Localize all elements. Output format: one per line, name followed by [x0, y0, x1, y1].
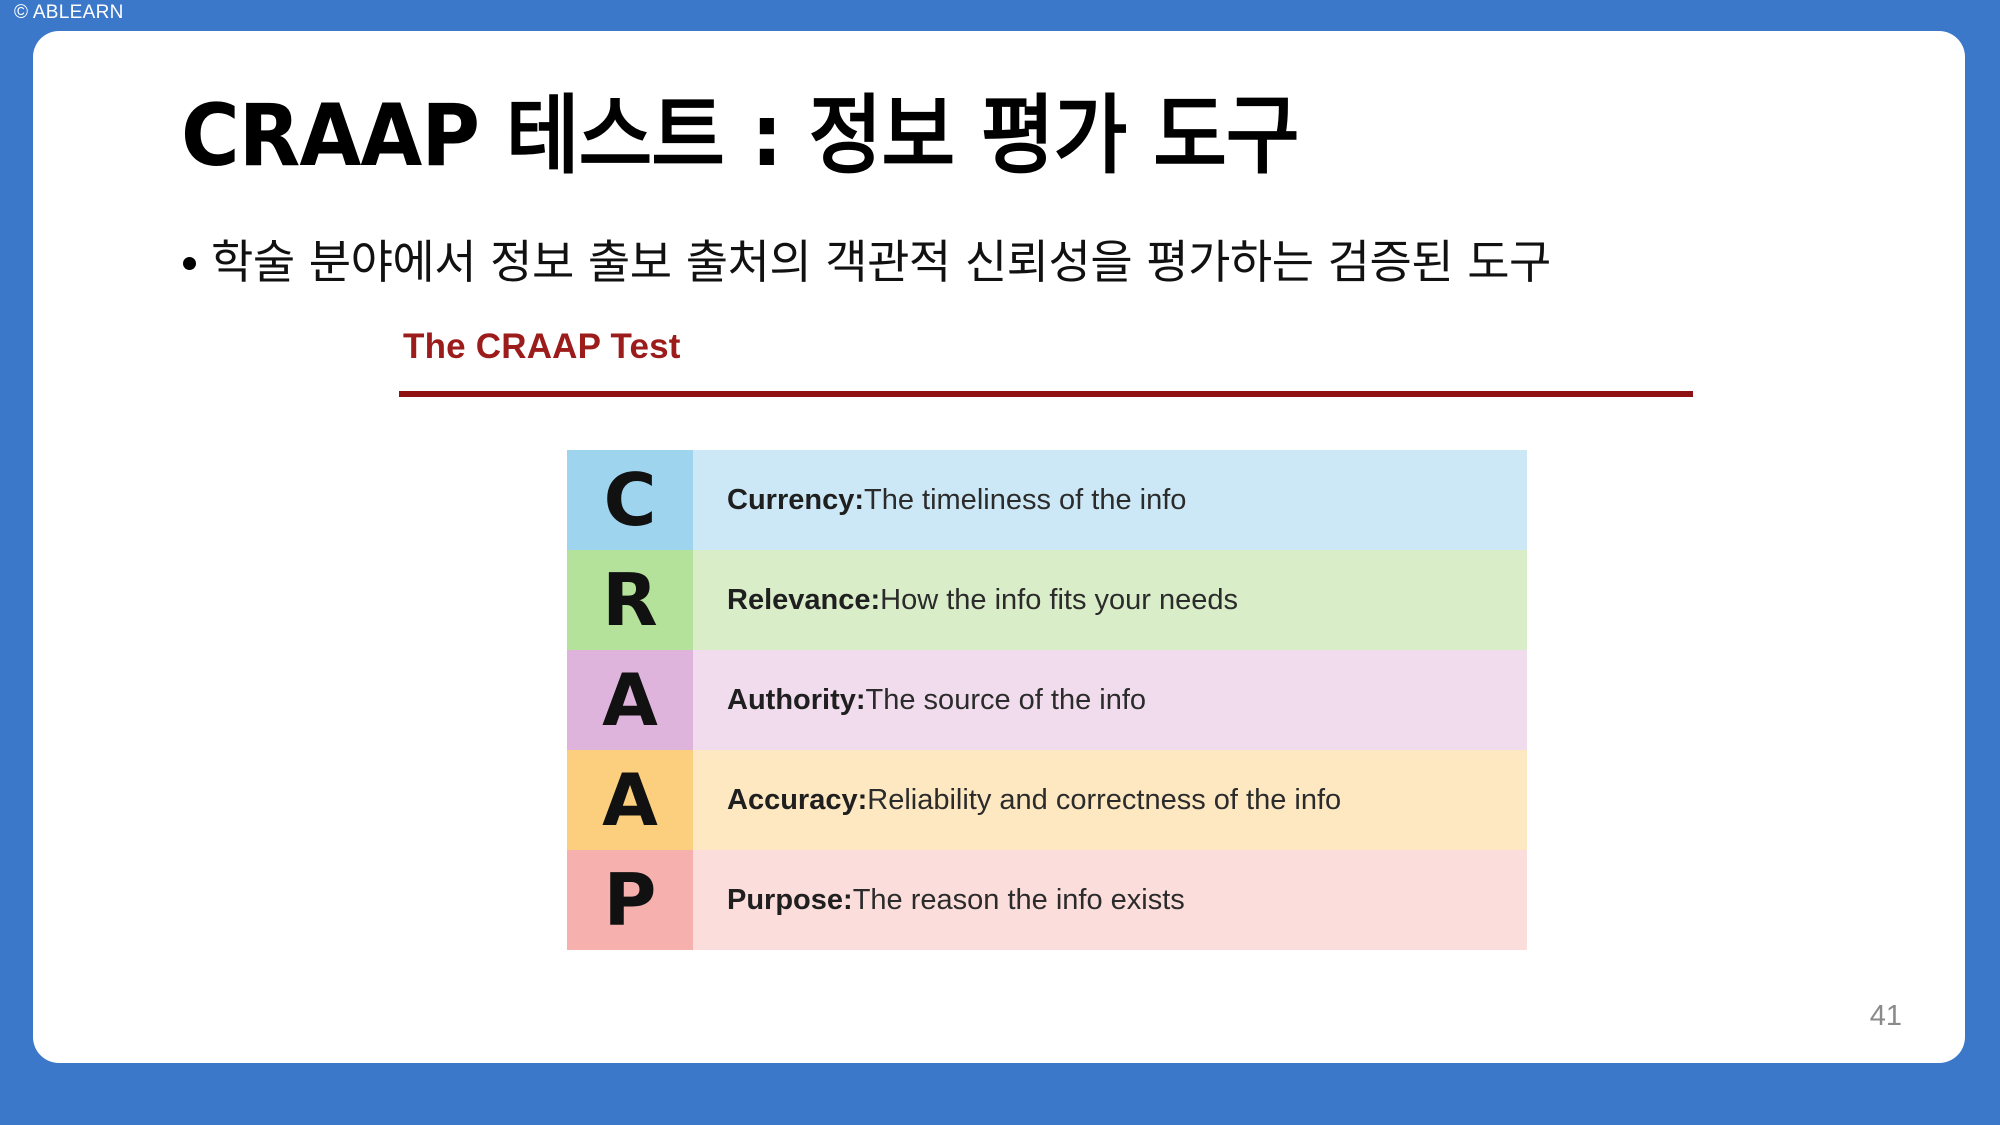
craap-graphic-divider — [399, 391, 1693, 397]
craap-detail-r: How the info fits your needs — [880, 584, 1238, 617]
table-row: C Currency: The timeliness of the info — [567, 450, 1527, 550]
slide-card: CRAAP 테스트 : 정보 평가 도구 학술 분야에서 정보 출보 출처의 객… — [33, 31, 1965, 1063]
craap-detail-p: The reason the info exists — [853, 884, 1185, 917]
craap-description-c: Currency: The timeliness of the info — [693, 450, 1527, 550]
craap-letter-c: C — [567, 450, 693, 550]
slide: © ABLEARN CRAAP 테스트 : 정보 평가 도구 학술 분야에서 정… — [0, 0, 2000, 1125]
craap-letter-a2: A — [567, 750, 693, 850]
craap-term-p: Purpose: — [727, 884, 853, 917]
craap-detail-c: The timeliness of the info — [864, 484, 1186, 517]
craap-description-a2: Accuracy: Reliability and correctness of… — [693, 750, 1527, 850]
craap-test-graphic: The CRAAP Test C Currency: The timelines… — [393, 319, 1713, 1059]
craap-detail-a1: The source of the info — [866, 684, 1147, 717]
bullet-item-text: 학술 분야에서 정보 출보 출처의 객관적 신뢰성을 평가하는 검증된 도구 — [211, 237, 1551, 288]
craap-term-c: Currency: — [727, 484, 864, 517]
table-row: R Relevance: How the info fits your need… — [567, 550, 1527, 650]
craap-table: C Currency: The timeliness of the info R… — [567, 450, 1527, 950]
craap-description-r: Relevance: How the info fits your needs — [693, 550, 1527, 650]
table-row: A Accuracy: Reliability and correctness … — [567, 750, 1527, 850]
craap-term-r: Relevance: — [727, 584, 880, 617]
craap-description-p: Purpose: The reason the info exists — [693, 850, 1527, 950]
bullet-item: 학술 분야에서 정보 출보 출처의 객관적 신뢰성을 평가하는 검증된 도구 — [183, 237, 1551, 288]
craap-term-a1: Authority: — [727, 684, 866, 717]
table-row: A Authority: The source of the info — [567, 650, 1527, 750]
craap-letter-p: P — [567, 850, 693, 950]
craap-letter-r: R — [567, 550, 693, 650]
craap-term-a2: Accuracy: — [727, 784, 867, 817]
bullet-dot-icon — [183, 257, 196, 270]
page-title: CRAAP 테스트 : 정보 평가 도구 — [181, 93, 1299, 179]
watermark-label: © ABLEARN — [14, 2, 124, 24]
craap-graphic-heading: The CRAAP Test — [403, 327, 681, 367]
table-row: P Purpose: The reason the info exists — [567, 850, 1527, 950]
craap-description-a1: Authority: The source of the info — [693, 650, 1527, 750]
page-number: 41 — [1870, 1000, 1902, 1033]
craap-detail-a2: Reliability and correctness of the info — [867, 784, 1341, 817]
craap-letter-a1: A — [567, 650, 693, 750]
